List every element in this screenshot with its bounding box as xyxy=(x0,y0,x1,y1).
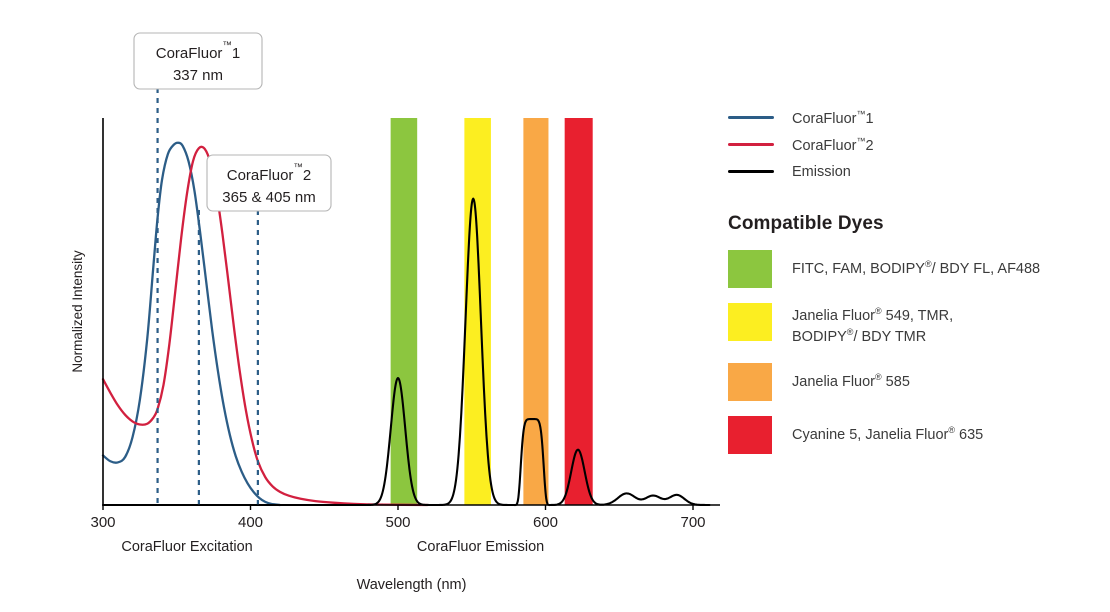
x-axis-title: Wavelength (nm) xyxy=(357,577,467,593)
dye-label: Cyanine 5, Janelia Fluor® 635 xyxy=(792,416,983,445)
emission-bands-layer xyxy=(391,118,593,505)
x-tick-label-400: 400 xyxy=(238,514,263,531)
compatible-dyes-title: Compatible Dyes xyxy=(728,213,1096,235)
figure-root: 300400500600700CoraFluor ExcitationCoraF… xyxy=(0,0,1110,612)
legend-item-emission: Emission xyxy=(728,158,1096,185)
dye-label: FITC, FAM, BODIPY®/ BDY FL, AF488 xyxy=(792,250,1040,279)
legend-label: CoraFluor™1 xyxy=(792,109,874,127)
x-tick-label-500: 500 xyxy=(385,514,410,531)
dye-row-1: Janelia Fluor® 549, TMR,BODIPY®/ BDY TMR xyxy=(728,303,1096,348)
dye-row-3: Cyanine 5, Janelia Fluor® 635 xyxy=(728,416,1096,454)
registered-glyph: ® xyxy=(847,327,854,337)
legend-item-corafluor1: CoraFluor™1 xyxy=(728,104,1096,131)
callouts-layer: CoraFluor™1337 nmCoraFluor™2365 & 405 nm xyxy=(134,33,331,211)
legend-and-dye-panel: CoraFluor™1CoraFluor™2Emission Compatibl… xyxy=(728,104,1096,454)
dye-color-swatch xyxy=(728,250,772,288)
dye-label: Janelia Fluor® 549, TMR,BODIPY®/ BDY TMR xyxy=(792,303,953,348)
compatible-dyes-list: FITC, FAM, BODIPY®/ BDY FL, AF488Janelia… xyxy=(728,250,1096,454)
red-band xyxy=(565,118,593,505)
registered-glyph: ® xyxy=(948,425,955,435)
x-tick-label-300: 300 xyxy=(90,514,115,531)
legend-line-swatch xyxy=(728,143,774,146)
trademark-glyph: ™ xyxy=(856,109,865,119)
dye-color-swatch xyxy=(728,416,772,454)
legend-line-swatch xyxy=(728,116,774,119)
dye-label: Janelia Fluor® 585 xyxy=(792,363,910,392)
axis-region-label-0: CoraFluor Excitation xyxy=(121,539,252,555)
x-tick-label-700: 700 xyxy=(680,514,705,531)
axis-region-label-1: CoraFluor Emission xyxy=(417,539,544,555)
green-band xyxy=(391,118,418,505)
orange-band xyxy=(523,118,548,505)
legend: CoraFluor™1CoraFluor™2Emission xyxy=(728,104,1096,185)
x-tick-label-600: 600 xyxy=(533,514,558,531)
registered-glyph: ® xyxy=(875,306,882,316)
callout-callout1-line2: 337 nm xyxy=(173,67,223,84)
legend-item-corafluor2: CoraFluor™2 xyxy=(728,131,1096,158)
registered-glyph: ® xyxy=(925,259,932,269)
trademark-glyph: ™ xyxy=(856,136,865,146)
dye-color-swatch xyxy=(728,363,772,401)
dye-row-2: Janelia Fluor® 585 xyxy=(728,363,1096,401)
legend-label: Emission xyxy=(792,164,851,180)
registered-glyph: ® xyxy=(875,372,882,382)
legend-line-swatch xyxy=(728,170,774,173)
y-axis-title: Normalized Intensity xyxy=(70,250,85,373)
legend-label: CoraFluor™2 xyxy=(792,136,874,154)
callout-callout2-line2: 365 & 405 nm xyxy=(222,189,315,206)
dye-color-swatch xyxy=(728,303,772,341)
dye-row-0: FITC, FAM, BODIPY®/ BDY FL, AF488 xyxy=(728,250,1096,288)
